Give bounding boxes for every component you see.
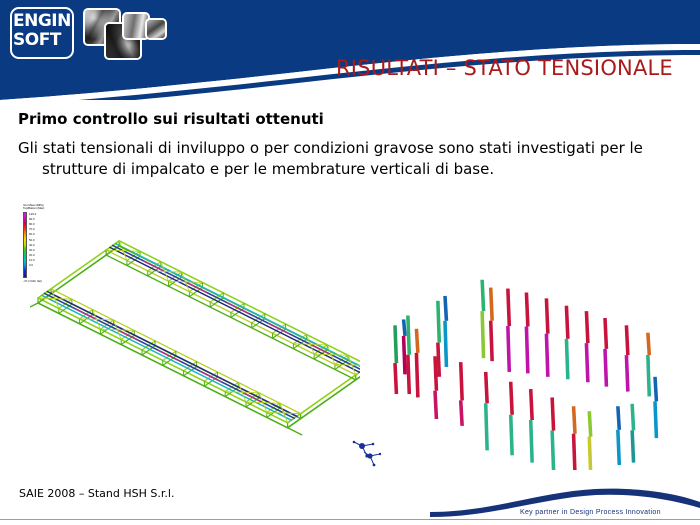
column-member [589,411,590,437]
column-member [408,316,409,355]
column-member [531,420,532,463]
column-member [546,298,547,333]
column-member [574,406,575,433]
fem-view-deck [30,225,360,440]
footer-text: SAIE 2008 – Stand HSH S.r.l. [19,487,174,500]
body-heading: Primo controllo sui risultati ottenuti [18,110,324,128]
tagline: Key partner in Design Process Innovation [520,509,661,516]
column-member [395,325,396,363]
column-member [586,343,587,382]
thumbnail-4 [145,18,167,40]
paragraph-line-2: strutture di impalcato e per le membratu… [18,159,678,180]
column-member [566,339,567,379]
column-member [438,301,439,343]
column-member [618,430,619,465]
column-member [632,404,633,430]
column-member [395,363,396,394]
column-member [486,403,487,450]
column-member [648,355,649,396]
body-paragraph: Gli stati tensionali di inviluppo o per … [18,138,678,180]
column-member [461,400,462,426]
column-member [589,437,590,470]
logo-line-2: SOFT [13,30,61,50]
axis-triad-icon [362,448,384,473]
legend-colorbar [23,212,27,278]
column-member [482,311,483,358]
column-member [648,333,649,355]
column-member [511,382,512,415]
column-member [605,349,606,387]
column-member [552,397,553,430]
column-member [618,406,619,430]
column-member [632,430,633,462]
column-member [445,321,446,367]
column-member [526,326,527,373]
column-member [508,326,509,372]
column-member [416,329,417,353]
column-member [435,356,436,391]
column-member [626,355,627,391]
column-member [404,319,405,335]
column-member [408,355,409,394]
column-member [461,362,462,400]
column-member [511,415,512,455]
column-member [626,325,627,355]
column-member [655,401,656,438]
fem-view-columns [375,215,675,470]
beam-element [288,366,360,423]
column-member [531,389,532,420]
column-member [416,353,417,398]
logo-line-1: ENGIN [13,11,71,31]
legend-title-line-2: Top/Bottom (Max) [23,206,44,210]
paragraph-line-1: Gli stati tensionali di inviluppo o per … [18,139,643,157]
legend-title: Von Mises (MPa)Top/Bottom (Max) [23,204,69,211]
column-member [526,292,527,326]
column-member [491,321,492,361]
column-member [445,296,446,321]
column-member [566,306,567,339]
column-member [486,372,487,403]
column-member [552,431,553,470]
logo-text: ENGINSOFT [13,12,75,50]
column-member [491,288,492,321]
column-member [508,289,509,327]
beam-element [288,428,302,435]
column-member [574,434,575,470]
column-member [586,311,587,343]
column-member [655,377,656,402]
page-title: RISULTATI – STATO TENSIONALE [336,56,696,80]
beam-element [30,303,38,310]
column-member [482,280,483,311]
bottom-divider [0,519,700,520]
column-member [404,336,405,374]
column-member [546,334,547,377]
column-member [605,318,606,349]
column-member [435,391,436,419]
column-member [438,343,439,377]
